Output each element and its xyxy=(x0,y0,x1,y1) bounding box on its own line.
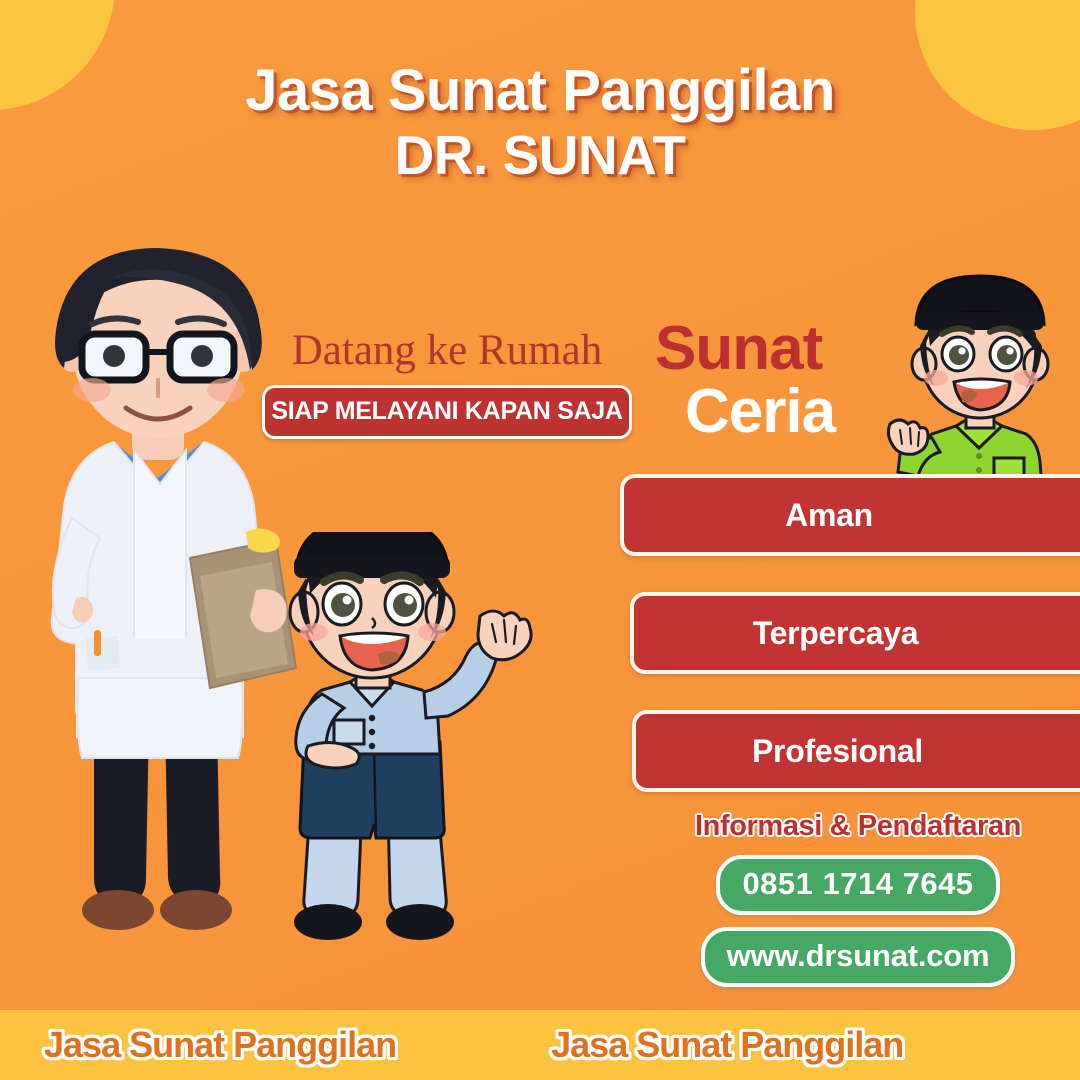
contact-phone-pill[interactable]: 0851 1714 7645 xyxy=(716,855,999,915)
feature-pill-profesional[interactable]: Profesional xyxy=(632,710,1080,792)
feature-label-terpercaya: Terpercaya xyxy=(753,615,918,652)
feature-pill-aman[interactable]: Aman xyxy=(620,474,1080,556)
contact-phone-label: 0851 1714 7645 xyxy=(742,866,973,901)
contact-block: Informasi & Pendaftaran 0851 1714 7645 w… xyxy=(648,810,1068,987)
ceria-line-1: Sunat xyxy=(655,318,835,380)
contact-website-pill[interactable]: www.drsunat.com xyxy=(701,927,1016,987)
contact-website-label: www.drsunat.com xyxy=(727,938,990,973)
feature-pill-terpercaya[interactable]: Terpercaya xyxy=(630,592,1080,674)
headline-block: Jasa Sunat Panggilan DR. SUNAT xyxy=(0,58,1080,186)
bottom-bar-text-right: Jasa Sunat Panggilan xyxy=(551,1024,903,1066)
bottom-bar-text-left: Jasa Sunat Panggilan xyxy=(44,1024,396,1066)
contact-heading: Informasi & Pendaftaran xyxy=(648,810,1068,843)
bottom-bar: Jasa Sunat Panggilan Jasa Sunat Panggila… xyxy=(0,1010,1080,1080)
headline-line-2: DR. SUNAT xyxy=(0,124,1080,186)
decorative-circle-top-left xyxy=(0,0,115,110)
ceria-headline-block: Sunat Ceria xyxy=(655,318,835,444)
ready-badge-label: SIAP MELAYANI KAPAN SAJA xyxy=(271,397,622,425)
ready-badge: SIAP MELAYANI KAPAN SAJA xyxy=(262,385,632,439)
waving-boy-in-peci-illustration xyxy=(248,532,538,952)
subhead-serif-text: Datang ke Rumah xyxy=(262,326,632,376)
decorative-circle-top-right xyxy=(915,0,1080,130)
subhead-block: Datang ke Rumah SIAP MELAYANI KAPAN SAJA xyxy=(262,326,632,439)
ceria-line-2: Ceria xyxy=(685,380,835,444)
poster-canvas: Jasa Sunat Panggilan DR. SUNAT xyxy=(0,0,1080,1080)
headline-line-1: Jasa Sunat Panggilan xyxy=(0,58,1080,124)
feature-label-profesional: Profesional xyxy=(752,733,923,770)
waving-boy-green-shirt-illustration xyxy=(884,272,1074,487)
feature-label-aman: Aman xyxy=(785,497,873,534)
